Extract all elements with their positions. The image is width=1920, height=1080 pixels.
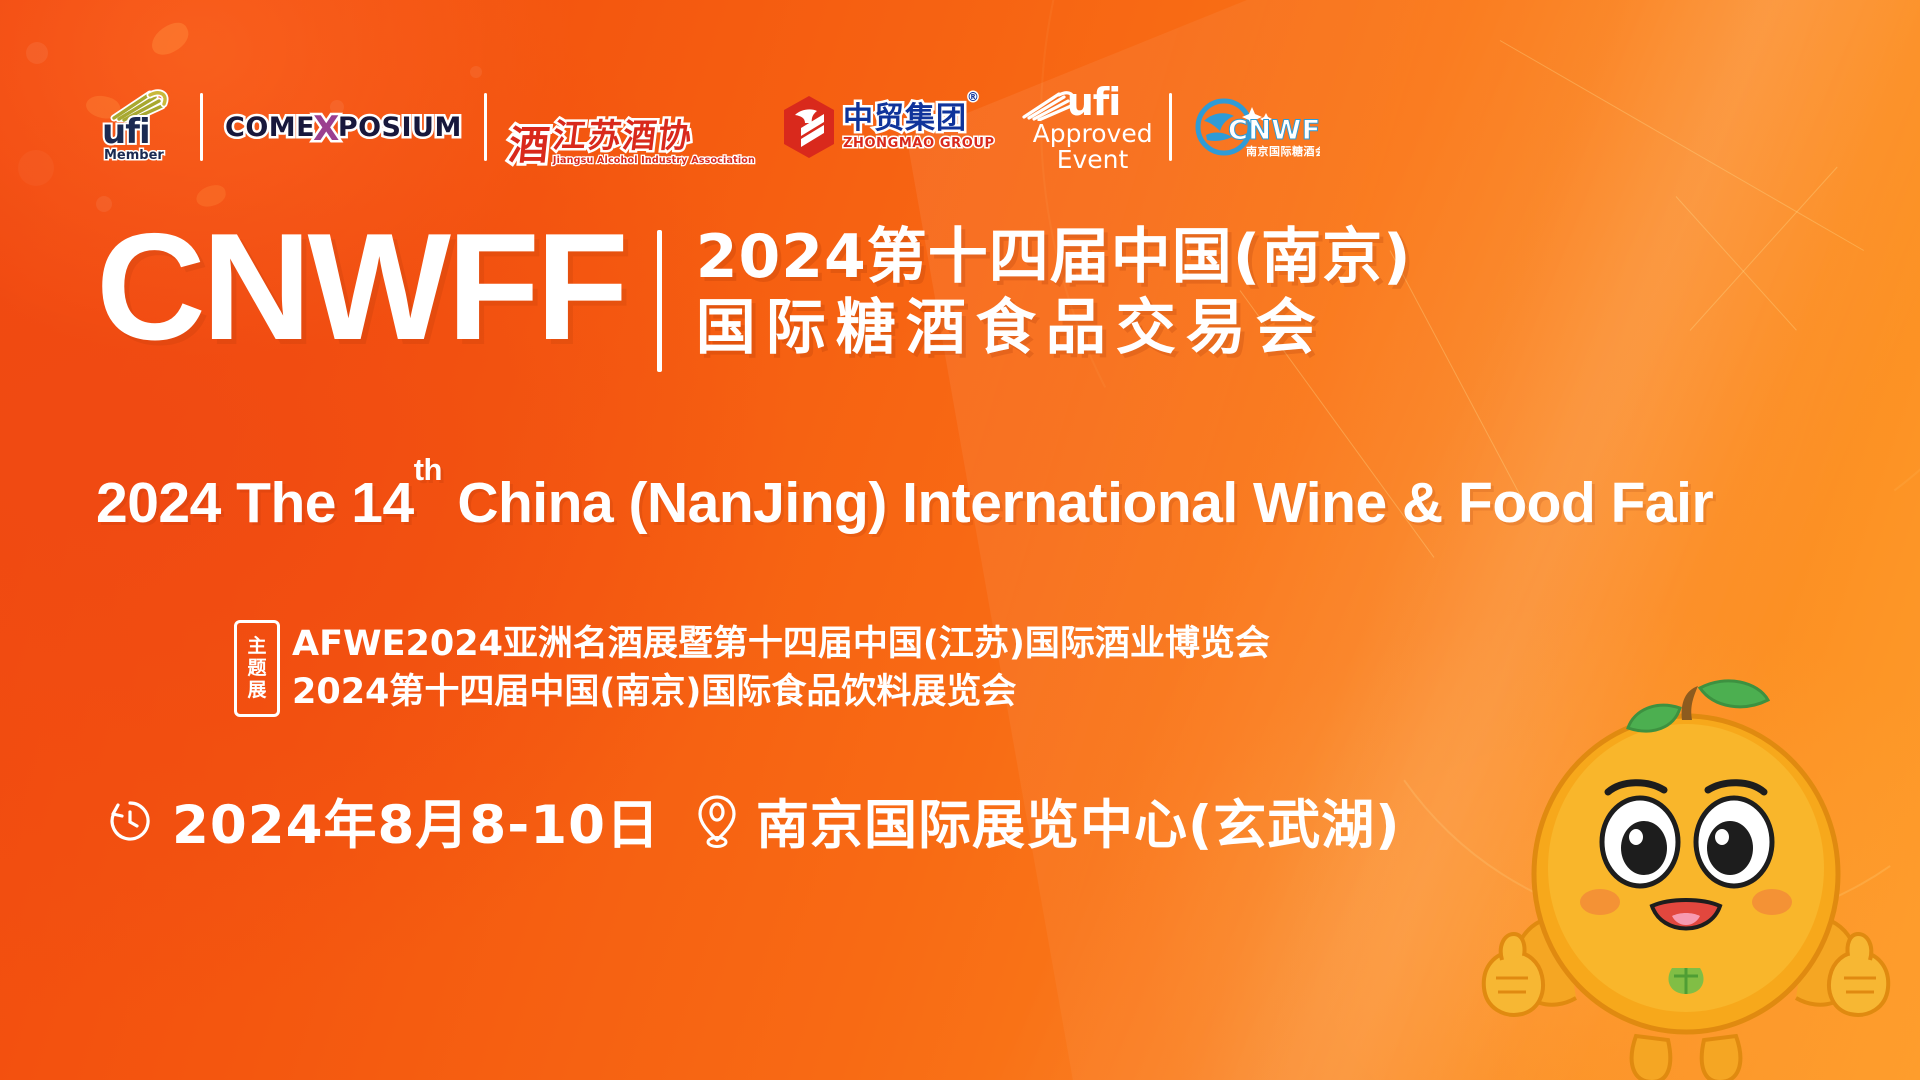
title-divider [657, 230, 662, 372]
title-chinese-line1: 2024第十四届中国(南京) [696, 222, 1412, 293]
ufi-approved-wordmark: ufi [1067, 83, 1121, 121]
zhongmao-chinese-name: 中贸集团 ® [843, 103, 967, 135]
jsa-english-name: Jiangsu Alcohol Industry Association [553, 155, 755, 166]
petal-shape [146, 18, 194, 60]
leaf-right [1700, 681, 1768, 707]
zhongmao-cn-text: 中贸集团 [843, 101, 967, 136]
event-info-row: 2024年8月8-10日 南京国际展览中心(玄武湖) [104, 783, 1400, 859]
bokeh-dot [470, 66, 482, 78]
jsa-chinese-name: 江苏酒协 [551, 119, 695, 154]
logo-zhongmao-group: 中贸集团 ® ZHONGMAO GROUP [781, 88, 995, 166]
page-title-acronym: CNWFF [96, 222, 625, 353]
svg-text:CNWFF: CNWFF [1228, 115, 1320, 146]
location-pin-icon [694, 793, 740, 849]
event-date-text: 2024年8月8-10日 [172, 783, 660, 859]
title-english: 2024 The 14th China (NanJing) Internatio… [96, 470, 1713, 536]
logo-jiangsu-alcohol-association: 酒 江苏酒协 Jiangsu Alcohol Industry Associat… [509, 88, 755, 166]
ufi-wordmark: ufi [102, 112, 150, 152]
logo-cnwff-circle: CNWFF 南京国际糖酒会 [1194, 88, 1320, 166]
title-block: CNWFF 2024第十四届中国(南京) 国际糖酒食品交易会 [96, 222, 1856, 372]
bokeh-dot [26, 42, 48, 64]
svg-text:南京国际糖酒会: 南京国际糖酒会 [1246, 144, 1320, 158]
partner-logo-strip: ufi Member COME X POSIUM 酒 江苏酒协 Jiangsu … [96, 88, 1320, 166]
comexposium-part1: COME [225, 112, 315, 143]
theme-exhibition-line-1: AFWE2024亚洲名酒展暨第十四届中国(江苏)国际酒业博览会 [292, 620, 1270, 668]
logo-divider [1169, 93, 1172, 161]
title-english-rest: China (NanJing) International Wine & Foo… [442, 471, 1713, 535]
theme-badge-char-1: 主 [247, 635, 266, 657]
registered-mark-icon: ® [967, 91, 980, 104]
ufi-member-label: Member [104, 148, 164, 163]
jsa-seal-character: 酒 [507, 126, 551, 166]
logo-comexposium: COME X POSIUM [225, 88, 462, 166]
globe-wave-icon: CNWFF 南京国际糖酒会 [1194, 91, 1320, 163]
logo-divider [484, 93, 487, 161]
event-venue-item: 南京国际展览中心(玄武湖) [694, 783, 1400, 859]
logo-ufi-approved-event: ufi Approved Event [1019, 88, 1147, 166]
orange-fruit-mascot [1476, 616, 1896, 1080]
ufi-approved-line2: Event [1057, 147, 1129, 172]
event-venue-text: 南京国际展览中心(玄武湖) [756, 783, 1400, 859]
ufi-approved-line1: Approved [1033, 121, 1153, 146]
promo-banner: ufi Member COME X POSIUM 酒 江苏酒协 Jiangsu … [0, 0, 1920, 1080]
event-date-item: 2024年8月8-10日 [104, 783, 660, 859]
theme-exhibition-badge: 主 题 展 [234, 620, 280, 717]
decorative-line-5 [1500, 40, 1864, 251]
logo-divider [200, 93, 203, 161]
bokeh-dot [18, 150, 54, 186]
comexposium-x: X [313, 109, 340, 149]
logo-ufi-member: ufi Member [96, 88, 178, 166]
theme-badge-char-3: 展 [247, 679, 266, 701]
theme-exhibitions: 主 题 展 AFWE2024亚洲名酒展暨第十四届中国(江苏)国际酒业博览会 20… [234, 620, 1270, 717]
title-english-ordinal: th [414, 452, 442, 487]
zhongmao-english-name: ZHONGMAO GROUP [843, 136, 995, 151]
comexposium-part2: POSIUM [338, 112, 462, 143]
title-english-prefix: 2024 The 14 [96, 471, 414, 535]
zhongmao-mark-icon [781, 95, 837, 159]
theme-exhibition-line-2: 2024第十四届中国(南京)国际食品饮料展览会 [292, 668, 1270, 716]
theme-badge-char-2: 题 [247, 657, 266, 679]
clock-icon [104, 795, 156, 847]
title-chinese-line2: 国际糖酒食品交易会 [696, 293, 1412, 364]
